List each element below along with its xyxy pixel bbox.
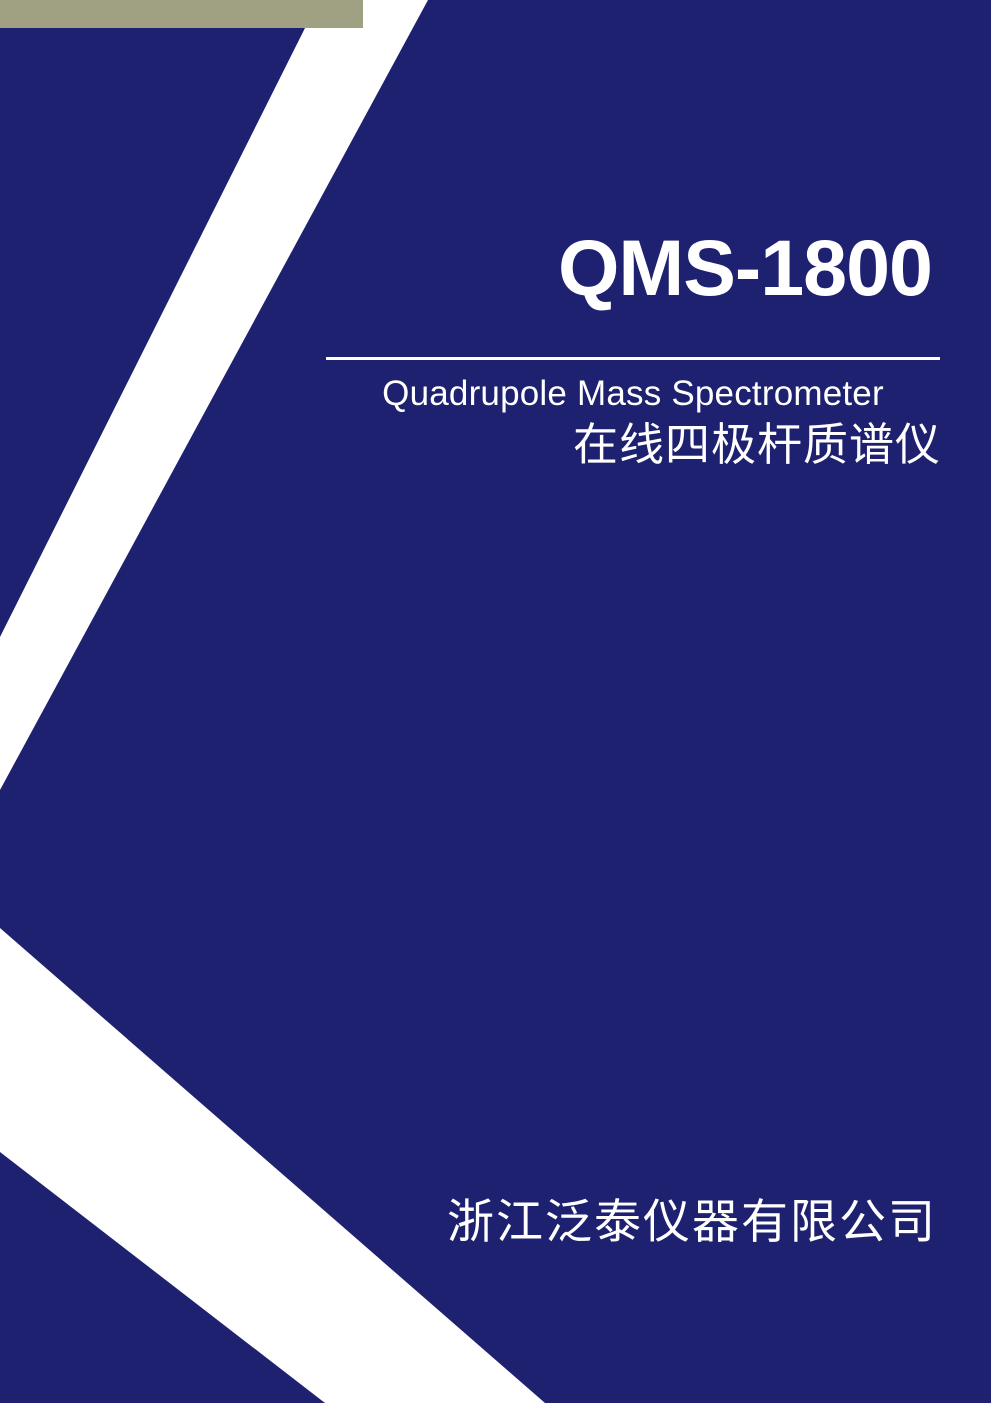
- company-name: 浙江泛泰仪器有限公司: [0, 1194, 937, 1250]
- subtitle-english: Quadrupole Mass Spectrometer: [326, 372, 940, 416]
- product-title-block: QMS-1800: [0, 228, 940, 307]
- title-divider-rule: [326, 357, 940, 360]
- product-title: QMS-1800: [0, 228, 940, 307]
- brochure-cover-page: QMS-1800 Quadrupole Mass Spectrometer 在线…: [0, 0, 991, 1403]
- cover-text-layer: QMS-1800 Quadrupole Mass Spectrometer 在线…: [0, 0, 991, 1403]
- subtitle-chinese: 在线四极杆质谱仪: [0, 419, 941, 471]
